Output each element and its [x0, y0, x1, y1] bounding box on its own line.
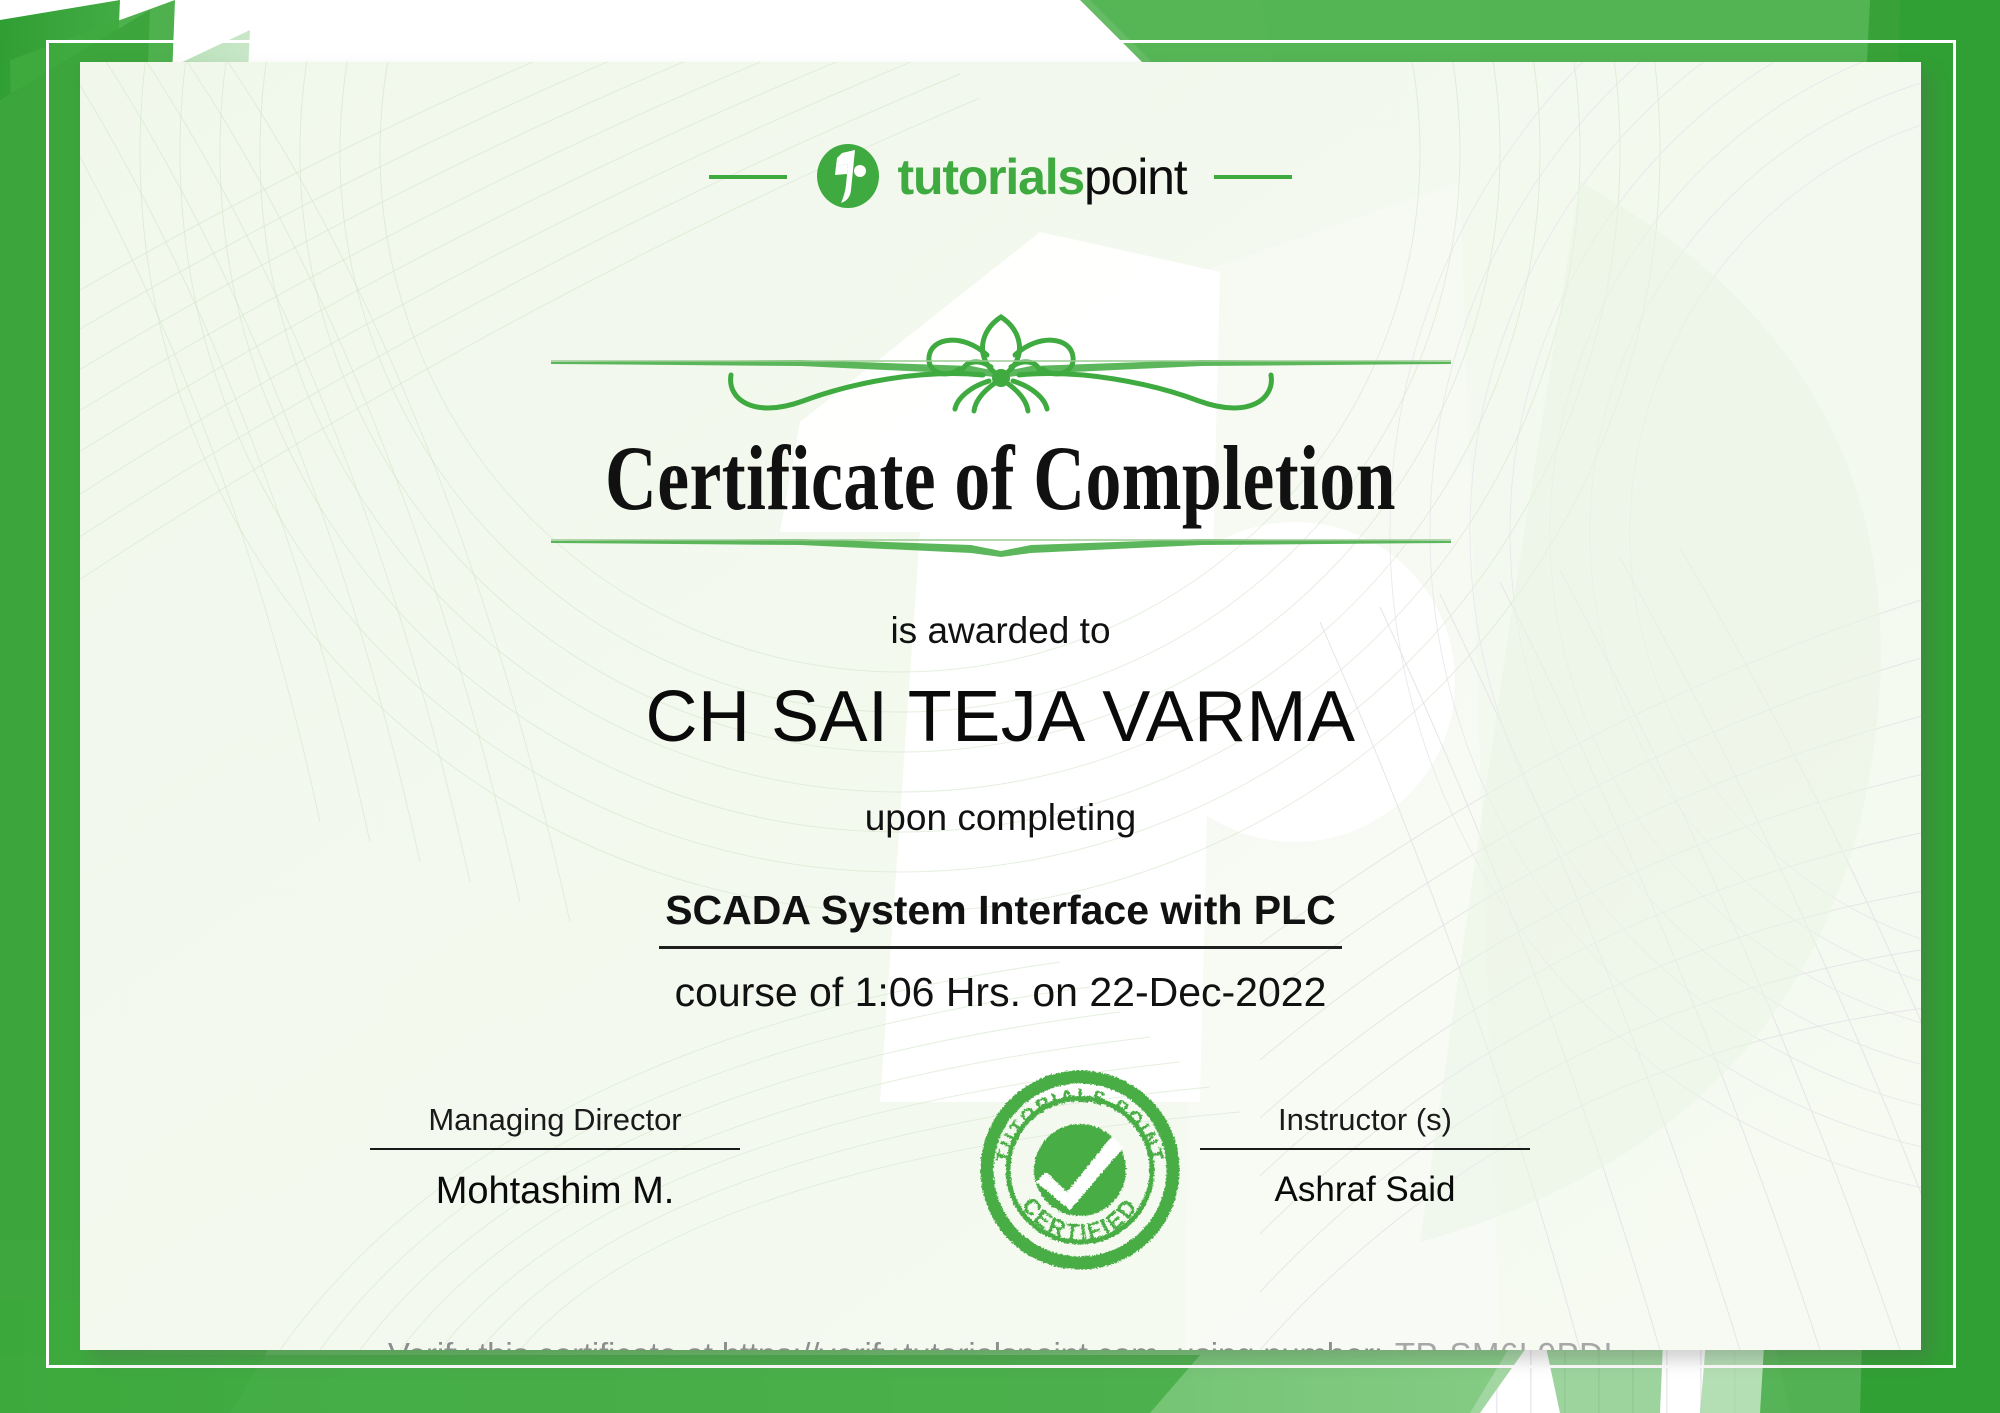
- certificate-card: tutorialspoint: [80, 62, 1921, 1350]
- recipient-name: CH SAI TEJA VARMA: [80, 676, 1921, 758]
- signature-instructor: Instructor (s) Ashraf Said: [1200, 1102, 1530, 1210]
- signature-role-label: Managing Director: [370, 1102, 740, 1150]
- tutorialspoint-tp-mark-icon: [815, 144, 881, 210]
- signature-role-label: Instructor (s): [1200, 1102, 1530, 1150]
- verify-footer: Verify this certificate at https://verif…: [80, 1336, 1921, 1350]
- signature-name: Mohtashim M.: [370, 1170, 740, 1213]
- title-rule-top: [551, 346, 1451, 380]
- signature-name: Ashraf Said: [1200, 1170, 1530, 1210]
- brand-header: tutorialspoint: [80, 144, 1921, 210]
- certificate-page: tutorialspoint: [0, 0, 2000, 1413]
- award-line: is awarded to: [80, 610, 1921, 652]
- brand-dash-left: [709, 175, 787, 179]
- brand-word-point: point: [1084, 149, 1186, 205]
- brand-word-tutorials: tutorials: [898, 149, 1084, 205]
- title-block: Certificate of Completion: [80, 432, 1921, 526]
- brand-lockup: tutorialspoint: [815, 144, 1187, 210]
- page-title: Certificate of Completion: [283, 432, 1719, 526]
- course-block: SCADA System Interface with PLC course o…: [80, 887, 1921, 1016]
- signature-managing-director: Managing Director Mohtashim M.: [370, 1102, 740, 1213]
- certified-seal-stamp: TUTORIALS POINT CERTIFIED: [980, 1070, 1180, 1270]
- title-rule-bottom: [551, 527, 1451, 561]
- certificate-number: TP-SM6L9PDI: [1395, 1336, 1613, 1350]
- brand-dash-right: [1214, 175, 1292, 179]
- course-name: SCADA System Interface with PLC: [659, 887, 1342, 949]
- verify-text: Verify this certificate at https://verif…: [388, 1336, 1383, 1350]
- course-meta: course of 1:06 Hrs. on 22-Dec-2022: [80, 969, 1921, 1016]
- completion-line: upon completing: [80, 797, 1921, 839]
- brand-wordmark: tutorialspoint: [898, 152, 1187, 202]
